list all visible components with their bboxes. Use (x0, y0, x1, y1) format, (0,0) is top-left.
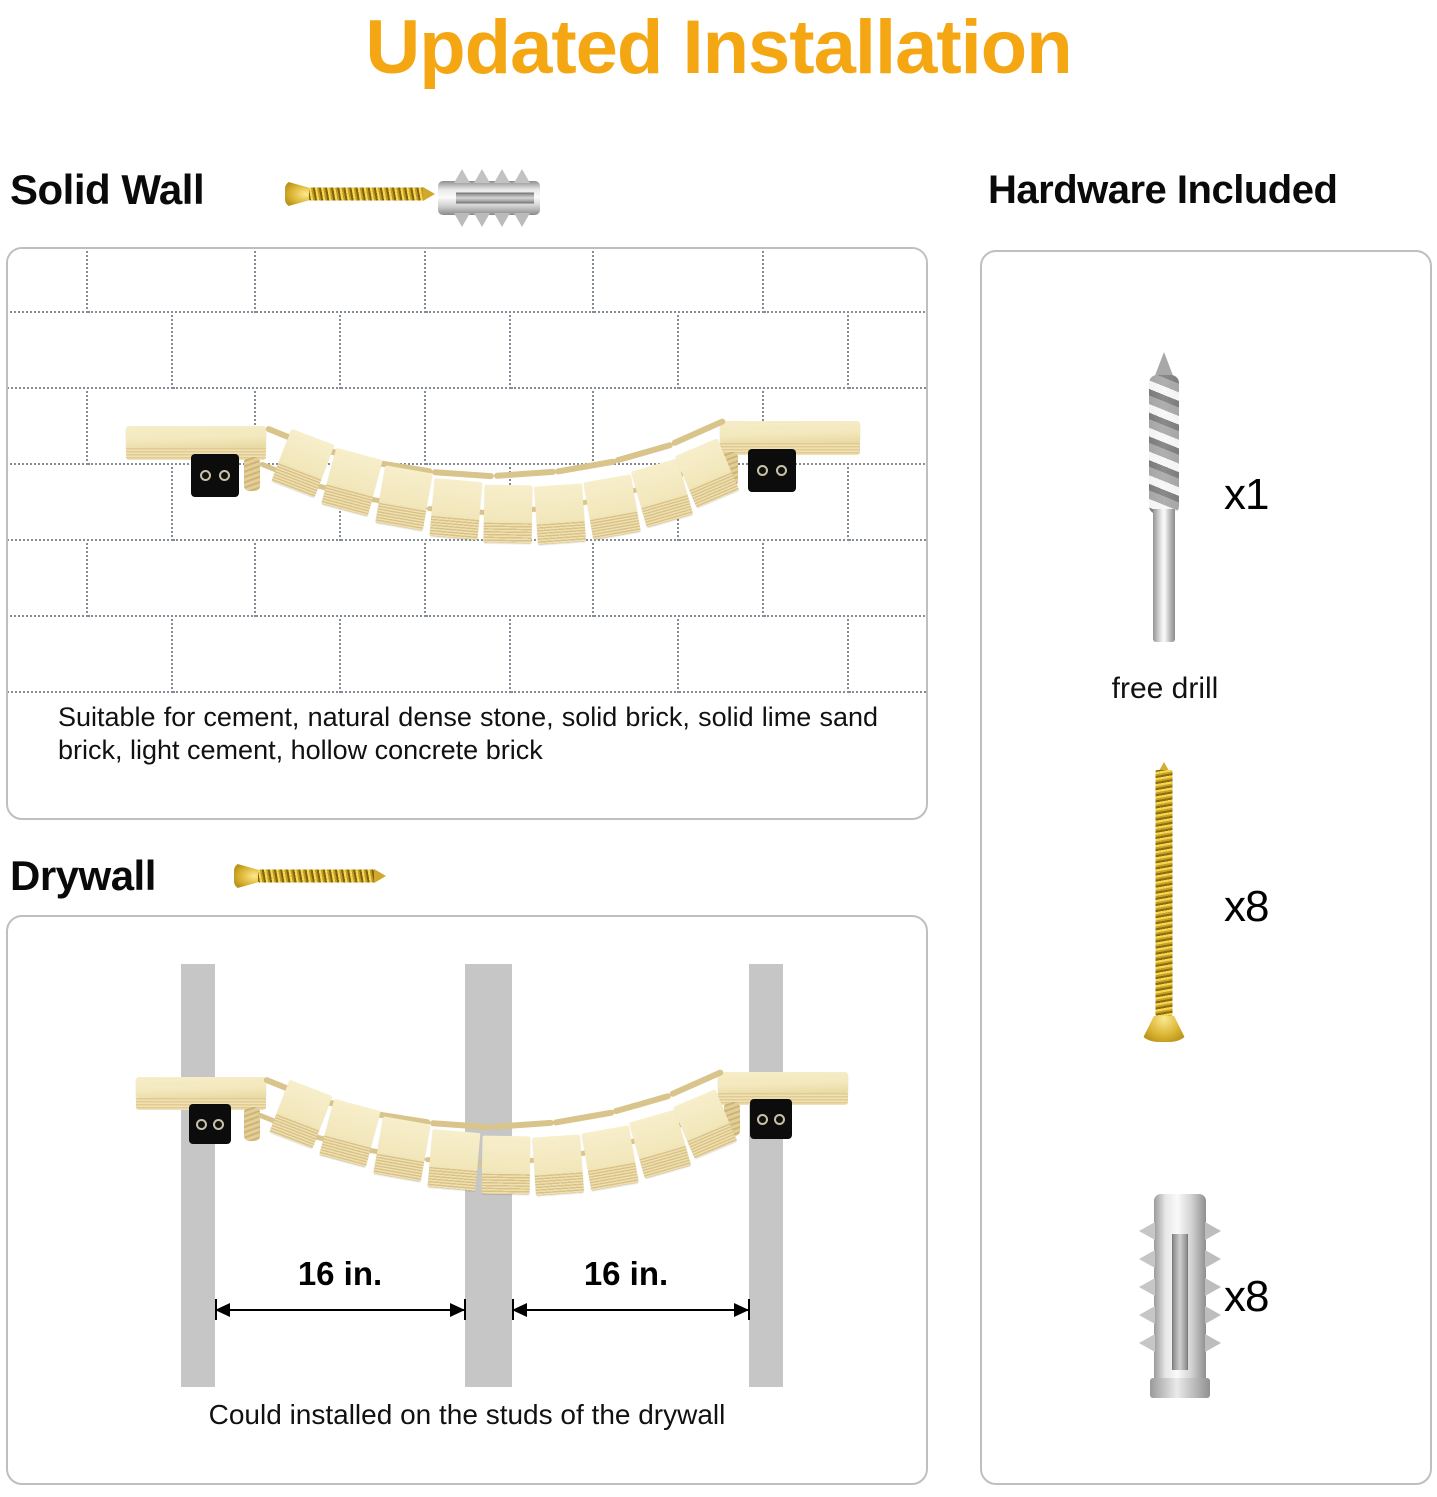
bridge-slat (483, 485, 532, 544)
drill-bit-label: free drill (1030, 672, 1300, 706)
left-platform (126, 426, 266, 449)
right-bracket (748, 449, 796, 492)
solid-wall-heading: Solid Wall (10, 166, 204, 214)
bridge-slat (321, 448, 382, 516)
bridge-slat (481, 1136, 530, 1195)
infographic-root: Updated Installation Solid Wall (0, 0, 1437, 1497)
left-bracket (191, 454, 239, 497)
wall-anchor-icon (438, 175, 540, 221)
page-title: Updated Installation (0, 4, 1437, 91)
bridge-slat (428, 1129, 481, 1191)
screw-icon (285, 177, 435, 211)
bridge-slat (581, 1125, 638, 1190)
right-bracket (750, 1099, 792, 1139)
solid-wall-panel: Suitable for cement, natural dense stone… (6, 247, 928, 820)
bridge-slat (534, 483, 586, 544)
right-platform (718, 1072, 848, 1094)
bridge-slat (373, 1116, 430, 1181)
left-rope-knot (244, 457, 260, 491)
left-bracket (189, 1104, 231, 1144)
dimension-label-right: 16 in. (501, 1255, 751, 1293)
dimension-arrow-left (215, 1309, 465, 1311)
drywall-caption: Could installed on the studs of the dryw… (6, 1398, 928, 1432)
wall-anchor-icon (1132, 1194, 1228, 1394)
bridge-slat (430, 478, 483, 540)
right-platform (720, 421, 860, 444)
bridge-slat (375, 465, 432, 530)
screw-icon (234, 861, 386, 891)
solid-wall-caption: Suitable for cement, natural dense stone… (58, 701, 878, 767)
bridge-slat (319, 1099, 380, 1167)
cat-bridge-illustration-drywall (8, 917, 928, 1387)
drill-bit-count: x1 (1224, 470, 1268, 520)
left-rope-knot (244, 1107, 260, 1141)
bridge-slat (532, 1134, 584, 1195)
bridge-slat (583, 474, 640, 539)
dimension-arrow-right (512, 1309, 749, 1311)
screw-count: x8 (1224, 882, 1268, 932)
cat-bridge-illustration (8, 249, 928, 719)
left-platform (136, 1077, 266, 1099)
anchor-count: x8 (1224, 1272, 1268, 1322)
dimension-label-left: 16 in. (215, 1255, 465, 1293)
hardware-heading: Hardware Included (988, 168, 1337, 213)
drill-bit-icon (1147, 352, 1181, 642)
screw-icon (1138, 762, 1190, 1042)
drywall-heading: Drywall (10, 852, 156, 900)
hardware-panel: x1 free drill x8 x8 (980, 250, 1432, 1485)
